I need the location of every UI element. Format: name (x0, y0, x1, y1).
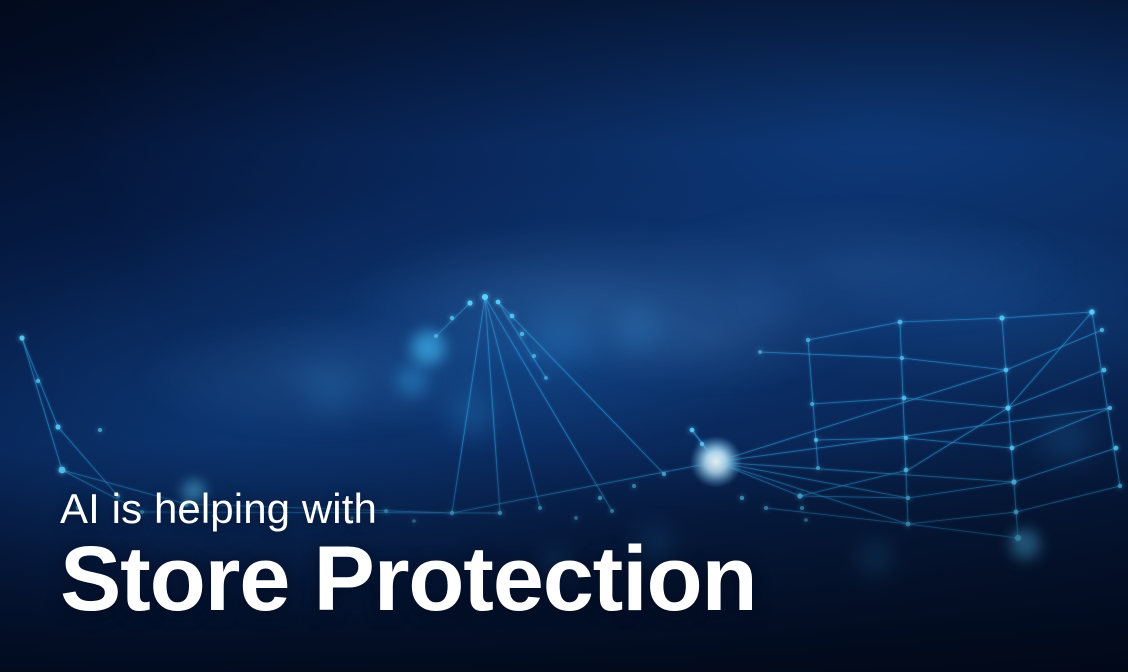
bokeh-light (618, 308, 658, 348)
mesh-edge (808, 322, 900, 340)
mesh-node (758, 350, 762, 354)
mesh-node (520, 332, 524, 336)
mesh-node (496, 300, 501, 305)
mesh-node (898, 320, 903, 325)
mesh-node (902, 396, 907, 401)
mesh-edge (1008, 370, 1104, 408)
mesh-edge (716, 408, 1110, 462)
mesh-node (1011, 479, 1016, 484)
mesh-node (904, 468, 909, 473)
bokeh-light (411, 331, 445, 365)
mesh-node (1100, 328, 1104, 332)
bokeh-light (703, 449, 729, 475)
mesh-node (1102, 368, 1107, 373)
mesh-edge (485, 297, 612, 511)
mesh-node (806, 338, 810, 342)
hero-banner: AI is helping with Store Protection (0, 0, 1128, 672)
mesh-edge (816, 438, 906, 440)
mesh-edge (1008, 312, 1092, 408)
mesh-edge (22, 338, 58, 427)
mesh-edge (692, 430, 716, 462)
mesh-node (999, 315, 1004, 320)
mesh-edge (1014, 448, 1116, 482)
mesh-edge (900, 318, 1002, 322)
mesh-edge (760, 352, 902, 358)
mesh-node (59, 467, 66, 474)
mesh-node (450, 316, 454, 320)
mesh-node (900, 356, 904, 360)
mesh-edge (1006, 330, 1102, 370)
mesh-edge (906, 438, 1012, 448)
mesh-node (814, 438, 818, 442)
mesh-edge (452, 297, 485, 513)
mesh-edge (485, 297, 540, 508)
mesh-node (1010, 446, 1015, 451)
mesh-edge (812, 398, 904, 404)
bokeh-light (1010, 530, 1040, 560)
mesh-node (810, 402, 814, 406)
mesh-edge (692, 430, 716, 462)
mesh-node (700, 442, 704, 446)
mesh-node (1014, 510, 1019, 515)
banner-eyebrow-text: AI is helping with (60, 486, 960, 531)
mesh-node (1108, 406, 1112, 410)
mesh-node (36, 379, 40, 383)
mesh-node (532, 354, 536, 358)
mesh-edge (22, 338, 62, 470)
mesh-node (708, 454, 712, 458)
bokeh-light (449, 391, 493, 435)
mesh-node (55, 424, 60, 429)
bokeh-light (1044, 418, 1088, 462)
hotspot-node (690, 436, 742, 488)
mesh-edge (908, 408, 1008, 470)
mesh-edge (1012, 408, 1110, 448)
bokeh-light (397, 366, 427, 396)
mesh-edge (1002, 318, 1018, 538)
mesh-edge (716, 462, 1014, 482)
mesh-node (434, 334, 438, 338)
mesh-node (98, 428, 102, 432)
mesh-edge (1002, 312, 1092, 318)
mesh-edge (1092, 312, 1120, 486)
bokeh-light (306, 368, 354, 416)
mesh-edge (485, 297, 500, 513)
mesh-edge (808, 340, 818, 468)
mesh-node (544, 376, 548, 380)
mesh-edge (1016, 486, 1120, 512)
mesh-node (816, 466, 820, 470)
mesh-edge (498, 302, 546, 378)
mesh-node (690, 428, 695, 433)
mesh-node (1005, 405, 1010, 410)
mesh-node (510, 314, 515, 319)
mesh-edge (904, 398, 1008, 408)
mesh-edge (498, 302, 664, 474)
mesh-node (1004, 368, 1009, 373)
banner-headline-title: Store Protection (60, 534, 960, 624)
mesh-node (1089, 309, 1095, 315)
bokeh-light (534, 312, 586, 364)
mesh-node (482, 294, 488, 300)
mesh-edge (902, 358, 1006, 370)
mesh-node (711, 457, 721, 467)
mesh-node (904, 436, 908, 440)
bokeh-light (736, 276, 784, 324)
mesh-node (1118, 484, 1122, 488)
mesh-node (662, 472, 666, 476)
mesh-node (1015, 535, 1021, 541)
mesh-node (467, 300, 472, 305)
mesh-edge (436, 303, 470, 336)
mesh-node (1114, 446, 1119, 451)
mesh-node (19, 335, 24, 340)
mesh-edge (716, 370, 1006, 462)
banner-copy-block: AI is helping with Store Protection (60, 486, 960, 624)
